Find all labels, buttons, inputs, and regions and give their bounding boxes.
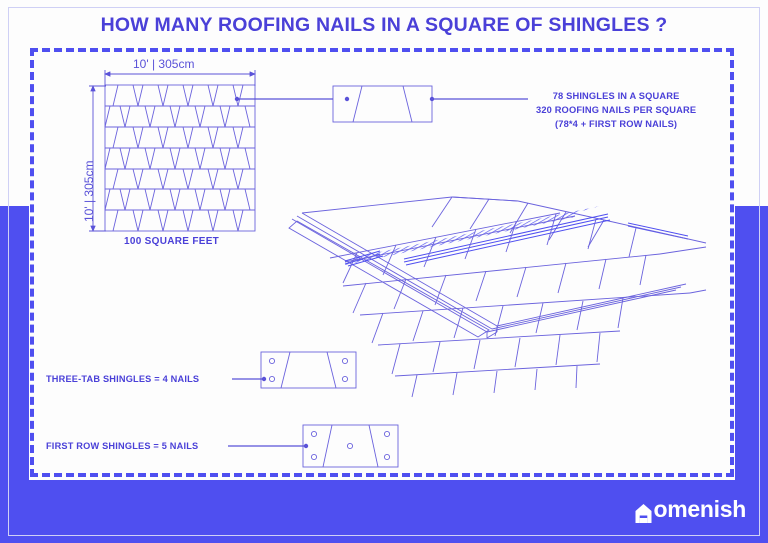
label-first-row-shingles: FIRST ROW SHINGLES = 5 NAILS <box>46 441 198 451</box>
label-three-tab-shingles: THREE-TAB SHINGLES = 4 NAILS <box>46 374 199 384</box>
detail-box-three-tab <box>261 352 356 388</box>
callout-line-1: 78 SHINGLES IN A SQUARE <box>536 89 696 103</box>
detail-box-plain-shingle <box>333 86 432 122</box>
leader-box-to-callout <box>430 97 528 101</box>
leader-grid-to-box <box>235 97 349 101</box>
brand-wordmark: omenish <box>654 496 746 523</box>
callout-line-2: 320 ROOFING NAILS PER SQUARE <box>536 103 696 117</box>
house-icon <box>634 502 653 523</box>
detail-box-first-row <box>303 425 398 467</box>
square-caption: 100 SQUARE FEET <box>124 236 219 247</box>
infographic-poster: HOW MANY ROOFING NAILS IN A SQUARE OF SH… <box>0 0 768 543</box>
isometric-roof-diagram <box>289 196 706 397</box>
callout-line-3: (78*4 + FIRST ROW NAILS) <box>536 117 696 131</box>
dimension-lines <box>89 70 255 231</box>
callout-main: 78 SHINGLES IN A SQUARE 320 ROOFING NAIL… <box>536 89 696 131</box>
leader-first-row <box>228 444 308 448</box>
dimension-label-top: 10' | 305cm <box>133 57 194 71</box>
shingle-square-grid <box>105 85 255 231</box>
diagram-artwork <box>0 0 768 543</box>
dimension-label-side: 10' | 305cm <box>82 161 96 222</box>
brand-logo: omenish <box>634 496 746 523</box>
